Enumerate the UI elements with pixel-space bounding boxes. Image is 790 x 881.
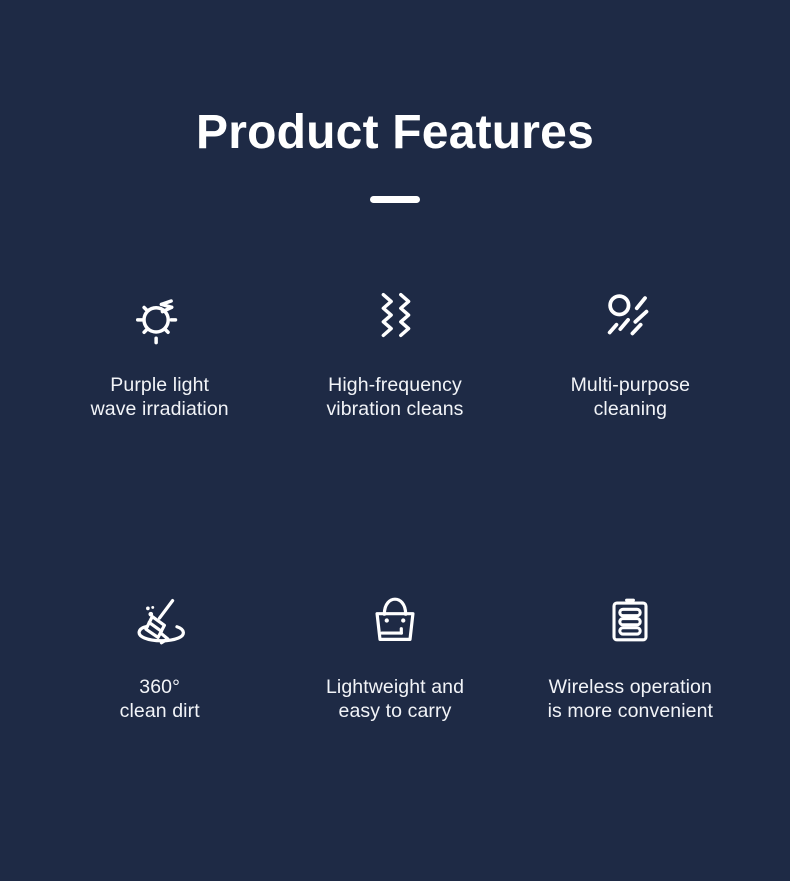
broom-rotation-icon — [129, 589, 191, 651]
page-title: Product Features — [0, 104, 790, 162]
feature-label: High-frequency vibration cleans — [326, 373, 463, 421]
feature-item-multi-purpose: Multi-purpose cleaning — [513, 285, 748, 421]
feature-label: Purple light wave irradiation — [91, 373, 229, 421]
feature-item-360-clean: 360° clean dirt — [42, 589, 277, 723]
header: Product Features — [0, 104, 790, 203]
feature-label: Multi-purpose cleaning — [571, 373, 690, 421]
battery-icon — [599, 589, 661, 651]
feature-label: 360° clean dirt — [120, 675, 200, 723]
feature-item-wireless: Wireless operation is more convenient — [513, 589, 748, 723]
light-bulb-rays-icon — [129, 285, 191, 347]
multi-purpose-polish-icon — [599, 285, 661, 347]
title-divider — [370, 196, 420, 203]
feature-label: Lightweight and easy to carry — [326, 675, 464, 723]
feature-label: Wireless operation is more convenient — [548, 675, 713, 723]
feature-item-lightweight: Lightweight and easy to carry — [277, 589, 512, 723]
feature-item-vibration: High-frequency vibration cleans — [277, 285, 512, 421]
feature-grid: Purple light wave irradiation High-frequ… — [42, 285, 748, 723]
vibration-waves-icon — [364, 285, 426, 347]
feature-item-purple-light: Purple light wave irradiation — [42, 285, 277, 421]
shopping-bag-icon — [364, 589, 426, 651]
product-features-page: Product Features — [0, 0, 790, 881]
